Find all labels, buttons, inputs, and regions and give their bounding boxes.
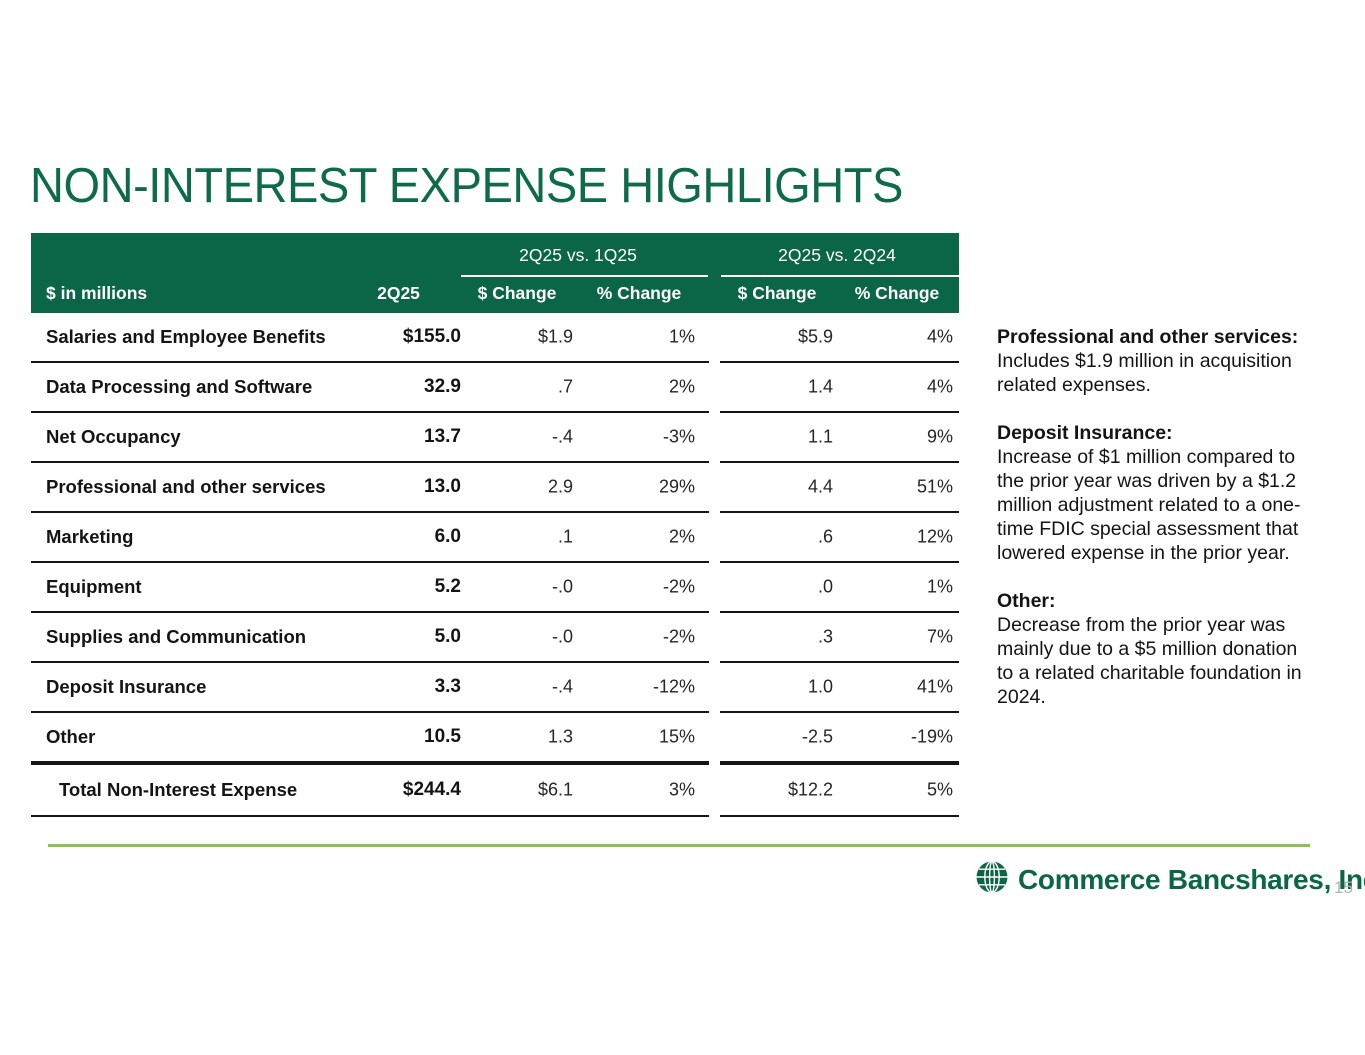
cell-percent-change-1: 29% [583, 477, 695, 498]
cell-2q25: 3.3 [336, 676, 461, 698]
cell-percent-change-2: 41% [841, 677, 953, 698]
row-label: Professional and other services [46, 476, 326, 498]
column-group-header-2: 2Q25 vs. 2Q24 [721, 245, 953, 266]
commentary-note-body: Increase of $1 million compared to the p… [997, 446, 1301, 564]
cell-dollar-change-1: 1.3 [461, 727, 573, 748]
cell-dollar-change-1: $1.9 [461, 327, 573, 348]
cell-percent-change-1: -2% [583, 627, 695, 648]
cell-2q25: 10.5 [336, 726, 461, 748]
cell-percent-change-2: 9% [841, 427, 953, 448]
column-group-header-1: 2Q25 vs. 1Q25 [461, 245, 695, 266]
row-label: Equipment [46, 576, 142, 598]
table-row: Data Processing and Software32.9.72%1.44… [31, 363, 959, 413]
cell-dollar-change-1: -.0 [461, 627, 573, 648]
row-label: Data Processing and Software [46, 376, 312, 398]
cell-percent-change-1: -2% [583, 577, 695, 598]
cell-percent-change-2: 51% [841, 477, 953, 498]
column-header-dollar-change-2: $ Change [721, 283, 833, 304]
commentary-note-body: Decrease from the prior year was mainly … [997, 614, 1302, 708]
cell-2q25: $244.4 [336, 779, 461, 801]
group-rule-2 [721, 275, 959, 277]
cell-dollar-change-2: 1.0 [721, 677, 833, 698]
column-header-unit: $ in millions [46, 283, 147, 304]
row-label: Deposit Insurance [46, 676, 206, 698]
column-header-2q25: 2Q25 [336, 283, 461, 304]
cell-percent-change-1: -3% [583, 427, 695, 448]
cell-dollar-change-2: 4.4 [721, 477, 833, 498]
cell-2q25: $155.0 [336, 326, 461, 348]
table-row: Other10.51.315%-2.5-19% [31, 713, 959, 763]
page-number: 15 [1334, 878, 1353, 898]
column-header-percent-change-1: % Change [583, 283, 695, 304]
cell-dollar-change-2: -2.5 [721, 727, 833, 748]
row-label: Salaries and Employee Benefits [46, 326, 326, 348]
table-row: Deposit Insurance3.3-.4-12%1.041% [31, 663, 959, 713]
cell-dollar-change-1: -.4 [461, 677, 573, 698]
cell-dollar-change-2: $5.9 [721, 327, 833, 348]
cell-percent-change-1: 15% [583, 727, 695, 748]
footer-divider [48, 844, 1310, 847]
group-rule-1 [461, 275, 708, 277]
cell-dollar-change-2: 1.4 [721, 377, 833, 398]
commentary-note: Other:Decrease from the prior year was m… [997, 589, 1317, 709]
cell-2q25: 13.0 [336, 476, 461, 498]
cell-2q25: 6.0 [336, 526, 461, 548]
cell-2q25: 32.9 [336, 376, 461, 398]
cell-2q25: 13.7 [336, 426, 461, 448]
cell-dollar-change-1: 2.9 [461, 477, 573, 498]
cell-percent-change-1: 3% [583, 780, 695, 801]
cell-percent-change-1: 2% [583, 527, 695, 548]
commentary-note-body: Includes $1.9 million in acquisition rel… [997, 350, 1292, 396]
table-total-row: Total Non-Interest Expense$244.4$6.13%$1… [31, 763, 959, 817]
page-title: NON-INTEREST EXPENSE HIGHLIGHTS [30, 157, 903, 215]
cell-percent-change-1: -12% [583, 677, 695, 698]
cell-percent-change-1: 1% [583, 327, 695, 348]
column-header-dollar-change-1: $ Change [461, 283, 573, 304]
row-label: Supplies and Communication [46, 626, 306, 648]
cell-dollar-change-2: 1.1 [721, 427, 833, 448]
row-label: Marketing [46, 526, 133, 548]
table-row: Salaries and Employee Benefits$155.0$1.9… [31, 313, 959, 363]
cell-percent-change-2: 4% [841, 327, 953, 348]
column-header-percent-change-2: % Change [841, 283, 953, 304]
cell-dollar-change-2: .6 [721, 527, 833, 548]
cell-percent-change-2: -19% [841, 727, 953, 748]
cell-dollar-change-1: .7 [461, 377, 573, 398]
brand-name: Commerce Bancshares, Inc. [1018, 864, 1365, 896]
cell-percent-change-2: 4% [841, 377, 953, 398]
cell-dollar-change-2: $12.2 [721, 780, 833, 801]
cell-percent-change-2: 12% [841, 527, 953, 548]
cell-dollar-change-1: $6.1 [461, 780, 573, 801]
cell-percent-change-2: 5% [841, 780, 953, 801]
commentary-note-heading: Other: [997, 590, 1056, 612]
table-row: Equipment5.2-.0-2%.01% [31, 563, 959, 613]
cell-dollar-change-1: -.4 [461, 427, 573, 448]
cell-dollar-change-2: .0 [721, 577, 833, 598]
globe-icon [975, 860, 1009, 899]
table-row: Professional and other services13.02.929… [31, 463, 959, 513]
commentary-note-heading: Deposit Insurance: [997, 422, 1173, 444]
cell-percent-change-1: 2% [583, 377, 695, 398]
cell-2q25: 5.2 [336, 576, 461, 598]
cell-percent-change-2: 7% [841, 627, 953, 648]
table-row: Marketing6.0.12%.612% [31, 513, 959, 563]
cell-percent-change-2: 1% [841, 577, 953, 598]
row-label: Other [46, 726, 95, 748]
commentary-note: Professional and other services:Includes… [997, 325, 1317, 397]
brand-logo: Commerce Bancshares, Inc. [975, 860, 1365, 899]
table-row: Net Occupancy13.7-.4-3%1.19% [31, 413, 959, 463]
table-row: Supplies and Communication5.0-.0-2%.37% [31, 613, 959, 663]
cell-2q25: 5.0 [336, 626, 461, 648]
cell-dollar-change-1: .1 [461, 527, 573, 548]
row-label: Net Occupancy [46, 426, 181, 448]
commentary-note: Deposit Insurance:Increase of $1 million… [997, 421, 1317, 565]
commentary-note-heading: Professional and other services: [997, 326, 1298, 348]
cell-dollar-change-2: .3 [721, 627, 833, 648]
total-label: Total Non-Interest Expense [59, 779, 297, 801]
table-body: Salaries and Employee Benefits$155.0$1.9… [31, 313, 959, 817]
non-interest-expense-table: 2Q25 vs. 1Q25 2Q25 vs. 2Q24 $ in million… [31, 233, 959, 817]
cell-dollar-change-1: -.0 [461, 577, 573, 598]
table-header: 2Q25 vs. 1Q25 2Q25 vs. 2Q24 $ in million… [31, 233, 959, 313]
commentary-panel: Professional and other services:Includes… [997, 325, 1317, 709]
